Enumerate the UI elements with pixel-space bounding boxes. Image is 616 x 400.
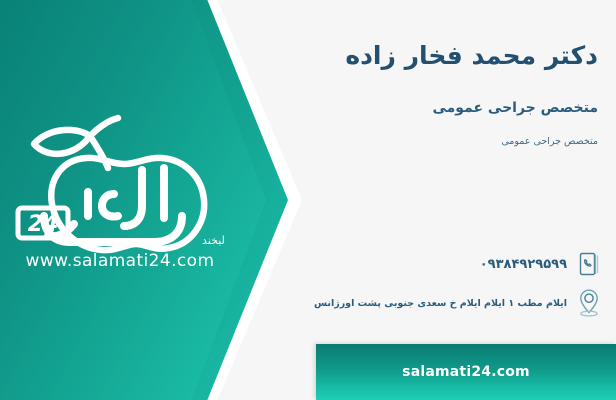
logo-brand-script (44, 168, 182, 242)
clinic-address: ایلام مطب ۱ ایلام ایلام خ سعدی جنوبی پشت… (314, 298, 567, 309)
footer-bar[interactable]: salamati24.com (316, 344, 616, 400)
logo-website-text: www.salamati24.com (26, 251, 215, 271)
salamati24-logo: 24 براحتی یک لبخند www.salamati24.com (14, 96, 226, 276)
footer-website: salamati24.com (402, 364, 530, 380)
specialty-primary: متخصص جراحی عمومی (308, 100, 598, 116)
doctor-name: دکتر محمد فخار زاده (308, 40, 598, 71)
phone-book-icon (576, 249, 602, 279)
logo-tagline-text: براحتی یک لبخند (202, 234, 226, 247)
address-row[interactable]: ایلام مطب ۱ ایلام ایلام خ سعدی جنوبی پشت… (314, 288, 602, 318)
map-pin-icon (576, 288, 602, 318)
svg-text:24: 24 (28, 212, 59, 237)
phone-row[interactable]: ۰۹۳۸۴۹۲۹۵۹۹ (480, 249, 602, 279)
phone-number: ۰۹۳۸۴۹۲۹۵۹۹ (480, 257, 567, 272)
card-content: دکتر محمد فخار زاده متخصص جراحی عمومی مت… (300, 0, 616, 400)
specialty-secondary: متخصص جراحی عمومی (308, 136, 598, 147)
business-card: 24 براحتی یک لبخند www.salamati24.com دک… (0, 0, 616, 400)
